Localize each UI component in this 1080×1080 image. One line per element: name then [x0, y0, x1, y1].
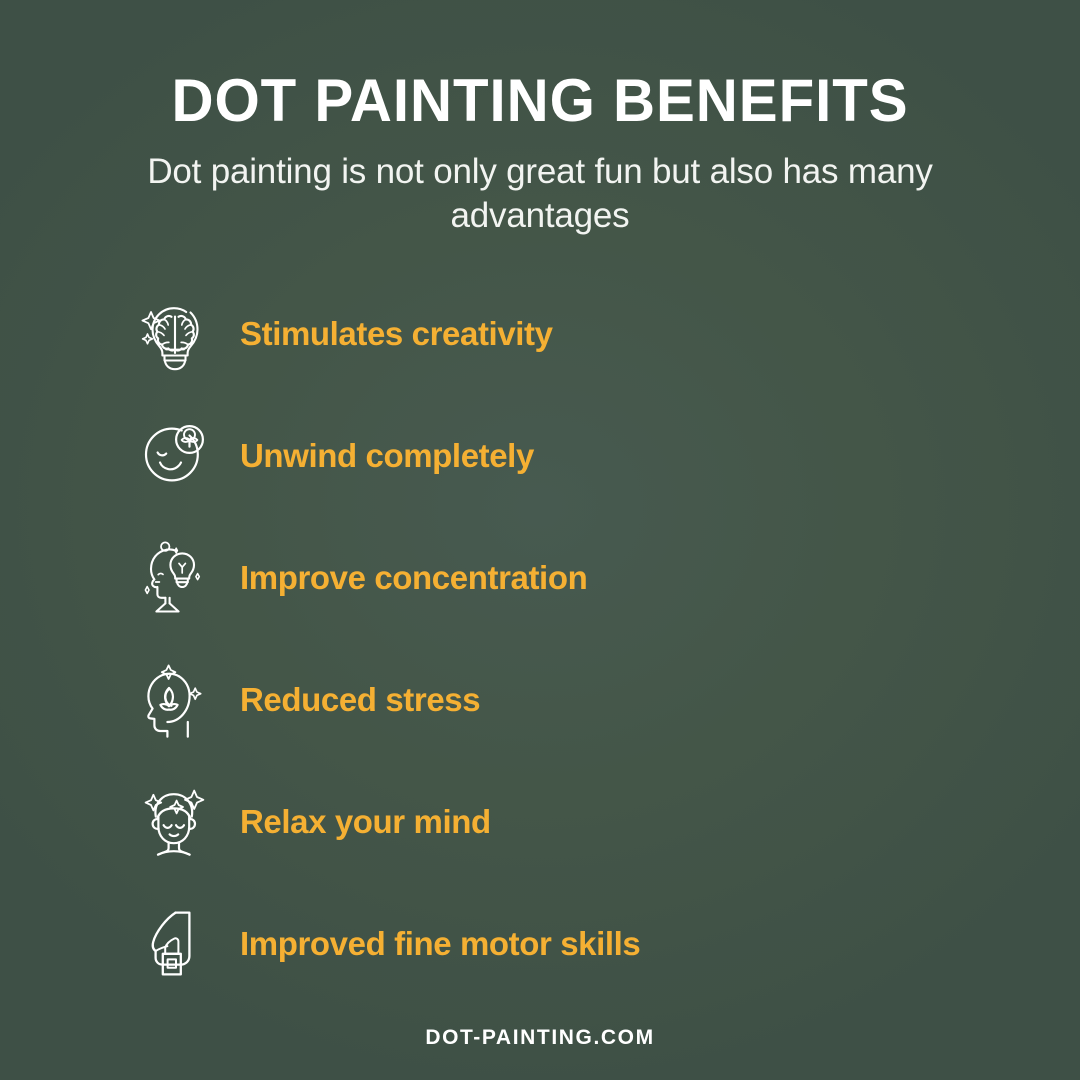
head-profile-lotus-icon [136, 658, 212, 742]
head-profile-lightbulb-icon [136, 536, 212, 620]
benefit-label: Improved fine motor skills [240, 924, 640, 964]
benefit-item-improve-concentration: Improve concentration [136, 533, 956, 623]
page-title: DOT PAINTING BENEFITS [16, 66, 1064, 136]
benefit-item-unwind-completely: Unwind completely [136, 411, 956, 501]
benefit-label: Reduced stress [240, 680, 480, 720]
benefit-label: Relax your mind [240, 802, 491, 842]
benefit-label: Unwind completely [240, 436, 534, 476]
benefit-label: Stimulates creativity [240, 314, 553, 354]
benefit-item-stimulates-creativity: Stimulates creativity [136, 289, 956, 379]
benefit-item-reduced-stress: Reduced stress [136, 655, 956, 745]
brain-lightbulb-icon [136, 292, 212, 376]
benefits-list: Stimulates creativity [136, 289, 956, 1021]
infographic-poster: DOT PAINTING BENEFITS Dot painting is no… [0, 0, 1080, 1080]
page-subtitle: Dot painting is not only great fun but a… [145, 150, 935, 238]
smiley-face-flower-icon [136, 414, 212, 498]
hand-holding-tool-icon [136, 902, 212, 986]
benefit-label: Improve concentration [240, 558, 587, 598]
benefit-item-improved-fine-motor-skills: Improved fine motor skills [136, 899, 956, 989]
relaxed-face-sparkles-icon [136, 780, 212, 864]
poster-footer: DOT-PAINTING.COM [0, 1026, 1080, 1050]
benefit-item-relax-your-mind: Relax your mind [136, 777, 956, 867]
website-url: DOT-PAINTING.COM [425, 1026, 654, 1049]
poster-header: DOT PAINTING BENEFITS Dot painting is no… [0, 66, 1080, 238]
